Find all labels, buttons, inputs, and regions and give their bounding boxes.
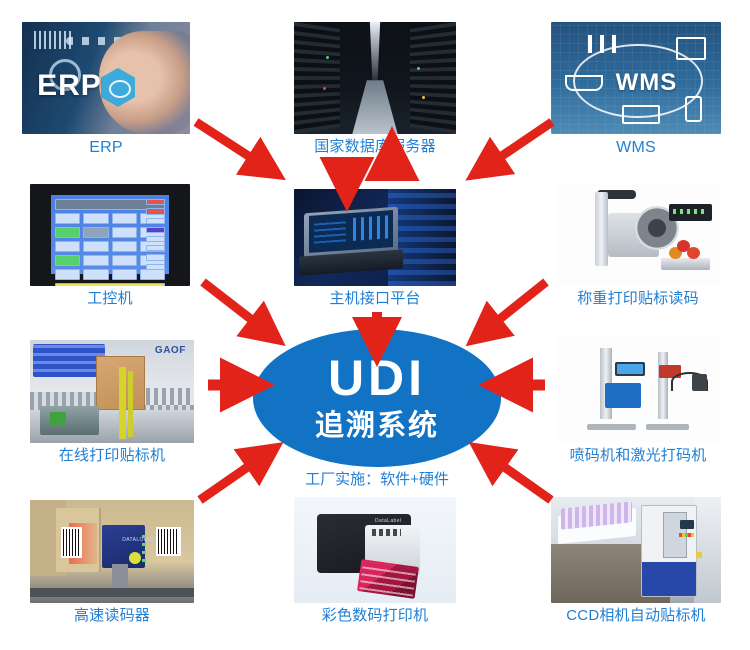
node-erp-label: ERP (89, 139, 123, 157)
node-color-printer-label: 彩色数码打印机 (322, 608, 428, 625)
node-hs-reader[interactable]: DATALOGIC 高速读码器 (30, 500, 194, 625)
node-weigh-print[interactable]: 称重打印贴标读码 (556, 184, 720, 308)
udi-subtitle: 追溯系统 (315, 412, 439, 441)
ccd-labeler-thumbnail (551, 497, 721, 603)
node-industrial-pc[interactable]: 工控机 (30, 184, 190, 308)
inkjet-laser-thumbnail (556, 335, 720, 443)
node-host-interface[interactable]: 主机接口平台 (294, 189, 456, 308)
node-online-labeler-label: 在线打印贴标机 (59, 448, 165, 465)
node-national-db-label: 国家数据库服务器 (314, 139, 436, 156)
node-wms[interactable]: WMS WMS (551, 22, 721, 157)
node-ccd-labeler-label: CCD相机自动贴标机 (566, 608, 706, 625)
udi-footnote: 工厂实施：软件+硬件 (253, 468, 501, 489)
udi-system-diagram: ERP ERP 国家数据库服务器 WMS WMS (0, 0, 750, 650)
node-wms-label: WMS (616, 139, 656, 157)
udi-title: UDI (328, 353, 426, 403)
node-ccd-labeler[interactable]: CCD相机自动贴标机 (551, 497, 721, 625)
wms-thumbnail: WMS (551, 22, 721, 134)
node-color-printer[interactable]: DataLabel 彩色数码打印机 (294, 497, 456, 625)
online-labeler-thumbnail: GAOF (30, 340, 194, 443)
arrow-wms-to-host (487, 122, 552, 166)
node-host-interface-label: 主机接口平台 (329, 291, 420, 308)
weigh-print-thumbnail (556, 184, 720, 286)
udi-center-hub[interactable]: UDI 追溯系统 (253, 329, 501, 467)
arrow-industrialpc-to-udi (203, 282, 265, 330)
host-interface-thumbnail (294, 189, 456, 286)
national-db-thumbnail (294, 22, 456, 134)
industrial-pc-thumbnail (30, 184, 190, 286)
hs-reader-thumbnail: DATALOGIC (30, 500, 194, 603)
node-national-db[interactable]: 国家数据库服务器 (294, 22, 456, 156)
node-online-labeler[interactable]: GAOF 在线打印贴标机 (30, 340, 194, 465)
arrow-weighprint-to-udi (486, 282, 546, 330)
node-hs-reader-label: 高速读码器 (74, 608, 150, 625)
node-inkjet-laser[interactable]: 喷码机和激光打码机 (556, 335, 720, 465)
color-printer-thumbnail: DataLabel (294, 497, 456, 603)
node-inkjet-laser-label: 喷码机和激光打码机 (570, 448, 707, 465)
arrow-erp-to-host (196, 122, 264, 166)
erp-thumbnail: ERP (22, 22, 190, 134)
node-erp[interactable]: ERP ERP (22, 22, 190, 157)
node-industrial-pc-label: 工控机 (87, 291, 133, 308)
node-weigh-print-label: 称重打印贴标读码 (577, 291, 699, 308)
